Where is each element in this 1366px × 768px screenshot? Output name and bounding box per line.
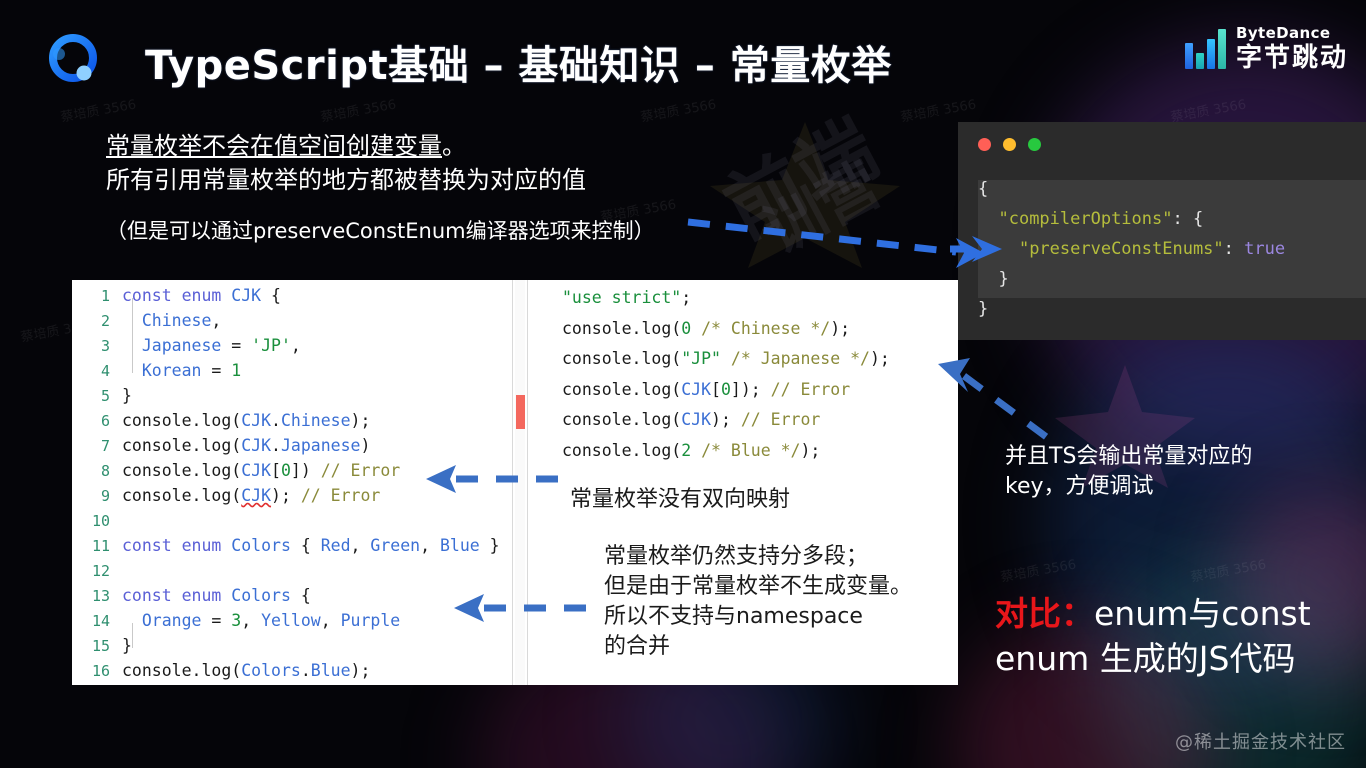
code-token: =	[201, 361, 231, 380]
code-token: 2	[681, 441, 691, 460]
code-token: ,	[321, 611, 341, 630]
code-token	[978, 209, 998, 229]
annotation-compare: 对比：enum与const enum 生成的JS代码	[995, 591, 1311, 681]
code-token: "use strict"	[562, 288, 681, 307]
code-token: );	[711, 410, 741, 429]
line-number: 4	[72, 359, 122, 384]
code-token	[691, 441, 701, 460]
code-token: console.log(	[562, 319, 681, 338]
code-line[interactable]: 7console.log(CJK.Japanese)	[72, 433, 512, 458]
code-token: .log(	[192, 661, 242, 680]
code-token: Colors	[241, 661, 301, 680]
code-line[interactable]: 4 Korean = 1	[72, 358, 512, 383]
compare-label: 对比：	[995, 594, 1094, 633]
code-token: );	[870, 349, 890, 368]
code-token: /* Chinese */	[701, 319, 830, 338]
code-token: console	[122, 411, 192, 430]
code-token: .	[271, 411, 281, 430]
annotation-multi-segment: 常量枚举仍然支持分多段； 但是由于常量枚举不生成变量。 所以不支持与namesp…	[604, 542, 912, 662]
indent-guide	[132, 298, 133, 373]
maximize-dot[interactable]	[1028, 138, 1041, 151]
line-number: 6	[72, 409, 122, 434]
code-token	[978, 239, 1019, 259]
code-token: }	[122, 636, 132, 655]
code-token: );	[351, 661, 371, 680]
code-token: /* Japanese */	[731, 349, 870, 368]
code-token: console.log(	[562, 349, 681, 368]
code-token: 0	[281, 461, 291, 480]
code-token: CJK	[241, 486, 271, 505]
window-controls[interactable]	[978, 138, 1041, 151]
code-token: {	[291, 586, 311, 605]
code-token: CJK	[241, 411, 271, 430]
minimap-scrollbar[interactable]	[515, 280, 525, 685]
intro-line-1-tail: 。	[442, 132, 466, 160]
code-token: 0	[681, 319, 691, 338]
line-number: 2	[72, 309, 122, 334]
code-token: [	[711, 380, 721, 399]
code-token: Chinese	[142, 311, 212, 330]
code-token: Korean	[142, 361, 202, 380]
code-token: enum	[182, 286, 222, 305]
code-token: const	[122, 286, 172, 305]
code-token: console.log(	[562, 441, 681, 460]
code-token: // Error	[771, 380, 850, 399]
code-token	[221, 286, 231, 305]
code-token: console.log(	[562, 410, 681, 429]
code-token: )	[360, 436, 370, 455]
code-token: Blue	[440, 536, 480, 555]
code-token: CJK	[241, 461, 271, 480]
code-token: console.log(	[562, 380, 681, 399]
code-token: CJK	[681, 410, 711, 429]
indent-guide-2	[132, 623, 133, 648]
code-token: ,	[420, 536, 440, 555]
code-token: Chinese	[281, 411, 351, 430]
code-token: );	[271, 486, 301, 505]
code-line[interactable]: console.log(CJK); // Error	[562, 405, 958, 436]
code-token	[221, 586, 231, 605]
code-token: {	[261, 286, 281, 305]
terminal-line: {	[978, 174, 1366, 204]
code-token: {	[291, 536, 321, 555]
code-token: Japanese	[281, 436, 360, 455]
typescript-source-pane[interactable]: 1const enum CJK {2 Chinese,3 Japanese = …	[72, 280, 512, 685]
code-token: ;	[681, 288, 691, 307]
code-line[interactable]: console.log("JP" /* Japanese */);	[562, 344, 958, 375]
line-number: 9	[72, 484, 122, 509]
code-token: );	[830, 319, 850, 338]
annotation-no-reverse-mapping: 常量枚举没有双向映射	[570, 481, 790, 513]
code-token: console	[122, 461, 192, 480]
code-token: console	[122, 436, 192, 455]
code-line[interactable]: 3 Japanese = 'JP',	[72, 333, 512, 358]
line-number: 1	[72, 284, 122, 309]
code-token: // Error	[301, 486, 380, 505]
code-token: Red	[321, 536, 351, 555]
code-token: {	[978, 179, 988, 199]
code-token: ])	[291, 461, 321, 480]
code-token: }	[480, 536, 500, 555]
line-number: 5	[72, 384, 122, 409]
code-line[interactable]: 1const enum CJK {	[72, 283, 512, 308]
code-token: CJK	[231, 286, 261, 305]
code-token: "JP"	[681, 349, 721, 368]
code-line[interactable]: 10	[72, 508, 512, 533]
code-token: console	[122, 486, 192, 505]
minimize-dot[interactable]	[1003, 138, 1016, 151]
code-token: 3	[231, 611, 241, 630]
javascript-code-rows: "use strict";console.log(0 /* Chinese */…	[528, 280, 958, 466]
error-marker[interactable]	[516, 395, 525, 429]
intro-line-2: 所有引用常量枚举的地方都被替换为对应的值	[106, 160, 586, 195]
code-token: .log(	[192, 461, 242, 480]
bytedance-brand: ByteDance 字节跳动	[1185, 26, 1348, 71]
terminal-line: }	[978, 294, 1366, 324]
code-line[interactable]: 14 Orange = 3, Yellow, Purple	[72, 608, 512, 633]
code-line[interactable]: 11const enum Colors { Red, Green, Blue }	[72, 533, 512, 558]
intro-line-1-underlined: 常量枚举不会在值空间创建变量	[106, 132, 442, 160]
code-line[interactable]: "use strict";	[562, 283, 958, 314]
code-token: : {	[1172, 209, 1203, 229]
brand-name-en: ByteDance	[1236, 26, 1348, 41]
code-token	[691, 319, 701, 338]
decorative-star-small-icon	[700, 120, 910, 270]
code-token: Colors	[231, 586, 291, 605]
brand-name-cn: 字节跳动	[1236, 45, 1348, 71]
code-token: ,	[291, 336, 301, 355]
code-line[interactable]: 8console.log(CJK[0]) // Error	[72, 458, 512, 483]
code-token: Purple	[341, 611, 401, 630]
typescript-code-rows: 1const enum CJK {2 Chinese,3 Japanese = …	[72, 280, 512, 683]
code-token: [	[271, 461, 281, 480]
code-line[interactable]: console.log(2 /* Blue */);	[562, 436, 958, 467]
code-token: .log(	[192, 411, 242, 430]
background-watermark: 蔡培质 3566	[1189, 554, 1267, 586]
code-token: Blue	[311, 661, 351, 680]
code-token: }	[978, 269, 1009, 289]
code-token: ,	[211, 311, 221, 330]
line-number: 12	[72, 559, 122, 584]
code-token: "preserveConstEnums"	[1019, 239, 1224, 259]
code-token: }	[978, 299, 988, 319]
code-token	[172, 536, 182, 555]
code-line[interactable]: 12	[72, 558, 512, 583]
line-number: 14	[72, 609, 122, 634]
code-token: .log(	[192, 436, 242, 455]
code-token	[221, 536, 231, 555]
code-token: CJK	[681, 380, 711, 399]
code-token: Orange	[142, 611, 202, 630]
code-token: .	[301, 661, 311, 680]
intro-line-3: （但是可以通过preserveConstEnum编译器选项来控制）	[106, 215, 655, 245]
code-line[interactable]: 6console.log(CJK.Chinese);	[72, 408, 512, 433]
close-dot[interactable]	[978, 138, 991, 151]
code-line[interactable]: 15}	[72, 633, 512, 658]
line-number: 3	[72, 334, 122, 359]
code-token: Yellow	[261, 611, 321, 630]
line-number: 13	[72, 584, 122, 609]
intro-line-1: 常量枚举不会在值空间创建变量。	[106, 126, 466, 161]
tsconfig-json-code: { "compilerOptions": { "preserveConstEnu…	[978, 174, 1366, 324]
code-token: ,	[241, 611, 261, 630]
terminal-line: "compilerOptions": {	[978, 204, 1366, 234]
code-line[interactable]: 5}	[72, 383, 512, 408]
line-number: 8	[72, 459, 122, 484]
arrow-to-terminal	[688, 208, 988, 268]
code-token: ,	[351, 536, 371, 555]
code-token: 'JP'	[251, 336, 291, 355]
line-number: 7	[72, 434, 122, 459]
line-number: 11	[72, 534, 122, 559]
code-token: "compilerOptions"	[998, 209, 1172, 229]
code-token: // Error	[741, 410, 820, 429]
code-token: Green	[370, 536, 420, 555]
code-token	[172, 286, 182, 305]
code-token: );	[800, 441, 820, 460]
line-number: 15	[72, 634, 122, 659]
page-title: TypeScript基础 – 基础知识 – 常量枚举	[145, 33, 892, 91]
code-token: /* Blue */	[701, 441, 800, 460]
pane-divider-left	[512, 280, 513, 685]
code-line[interactable]: 2 Chinese,	[72, 308, 512, 333]
bytedance-bars-icon	[1185, 29, 1226, 69]
code-token: :	[1224, 239, 1244, 259]
code-token: }	[122, 386, 132, 405]
terminal-line: "preserveConstEnums": true	[978, 234, 1366, 264]
site-watermark: @稀土掘金技术社区	[1175, 728, 1346, 754]
code-token: ]);	[731, 380, 771, 399]
bg-diagonal-watermark: 前端	[703, 88, 893, 260]
code-token: const	[122, 536, 172, 555]
slide-header: TypeScript基础 – 基础知识 – 常量枚举 ByteDance 字节跳…	[0, 0, 1366, 108]
code-token	[721, 349, 731, 368]
annotation-right-note: 并且TS会输出常量对应的 key，方便调试	[1005, 442, 1252, 502]
code-line[interactable]: console.log(0 /* Chinese */);	[562, 314, 958, 345]
code-token: Colors	[231, 536, 291, 555]
code-token: =	[221, 336, 251, 355]
code-line[interactable]: 16console.log(Colors.Blue);	[72, 658, 512, 683]
code-token: CJK	[241, 436, 271, 455]
line-number: 10	[72, 509, 122, 534]
code-token: 0	[721, 380, 731, 399]
code-token: .log(	[192, 486, 242, 505]
code-token: const	[122, 586, 172, 605]
code-token: Japanese	[142, 336, 221, 355]
juejin-circle-logo-icon	[46, 32, 100, 86]
code-line[interactable]: console.log(CJK[0]); // Error	[562, 375, 958, 406]
code-token: enum	[182, 536, 222, 555]
code-token: );	[351, 411, 371, 430]
code-line[interactable]: 13const enum Colors {	[72, 583, 512, 608]
background-watermark: 蔡培质 3566	[999, 554, 1077, 586]
code-token: console	[122, 661, 192, 680]
line-number: 16	[72, 659, 122, 684]
code-token: .	[271, 436, 281, 455]
code-token: true	[1244, 239, 1285, 259]
code-token: 1	[231, 361, 241, 380]
tsconfig-terminal-window[interactable]: { "compilerOptions": { "preserveConstEnu…	[958, 122, 1366, 340]
code-token: =	[201, 611, 231, 630]
code-token: enum	[182, 586, 222, 605]
code-token: // Error	[321, 461, 400, 480]
bg-diagonal-watermark-2: 训营	[747, 137, 894, 270]
terminal-line: }	[978, 264, 1366, 294]
slide-root: 前端 训营 蔡培质 3566蔡培质 3566蔡培质 3566蔡培质 3566蔡培…	[0, 0, 1366, 768]
code-token	[172, 586, 182, 605]
code-line[interactable]: 9console.log(CJK); // Error	[72, 483, 512, 508]
